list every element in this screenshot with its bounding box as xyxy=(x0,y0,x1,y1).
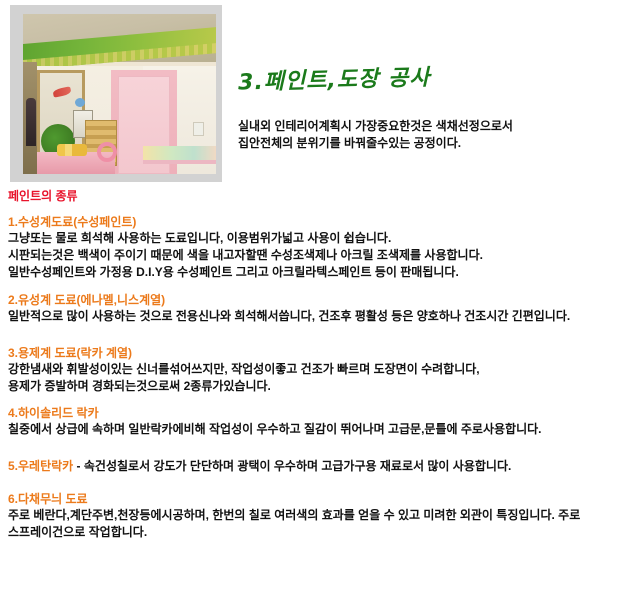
item-body: 강한냄새와 휘발성이있는 신너를섞어쓰지만, 작업성이좋고 건조가 빠르며 도장… xyxy=(8,361,614,395)
item-heading-text: 1.수성계도료(수성페인트) xyxy=(8,215,136,229)
item-heading: 5.우레탄락카 - 속건성칠로서 강도가 단단하며 광택이 우수하며 고급가구용… xyxy=(8,458,614,474)
photo-frame xyxy=(10,5,222,182)
interior-room-photo xyxy=(23,14,216,174)
photo-person-silhouette xyxy=(26,98,36,146)
item-body: 일반적으로 많이 사용하는 것으로 전용신나와 희석해서씁니다, 건조후 평활성… xyxy=(8,308,614,325)
photo-dado-stripe xyxy=(143,160,216,164)
item-heading: 3.용제계 도료(락카 계열) xyxy=(8,345,614,361)
paint-type-item: 5.우레탄락카 - 속건성칠로서 강도가 단단하며 광택이 우수하며 고급가구용… xyxy=(8,458,614,474)
paint-type-item: 2.유성계 도료(에나멜,니스계열) 일반적으로 많이 사용하는 것으로 전용신… xyxy=(8,292,614,325)
item-heading: 4.하이솔리드 락카 xyxy=(8,405,614,421)
item-body: 그냥또는 물로 희석해 사용하는 도료입니다, 이용범위가넓고 사용이 쉽습니다… xyxy=(8,230,614,281)
paint-type-item: 6.다채무늬 도료 주로 베란다,계단주변,천장등에시공하며, 한번의 칠로 여… xyxy=(8,491,614,541)
item-heading-text: 2.유성계 도료(에나멜,니스계열) xyxy=(8,293,165,307)
paint-type-item: 1.수성계도료(수성페인트) 그냥또는 물로 희석해 사용하는 도료입니다, 이… xyxy=(8,214,614,281)
photo-dado-band xyxy=(143,146,216,160)
photo-ring-toy xyxy=(97,142,117,162)
photo-toys xyxy=(57,144,87,156)
photo-blue-decal-icon xyxy=(75,98,85,107)
section-title: 페인트의 종류 xyxy=(8,187,78,204)
item-heading-text: 3.용제계 도료(락카 계열) xyxy=(8,346,132,360)
hero-description: 실내외 인테리어계획시 가장중요한것은 색채선정으로서 집안전체의 분위기를 바… xyxy=(238,118,513,152)
item-heading: 6.다채무늬 도료 xyxy=(8,491,614,507)
hero-block: 3.페인트,도장 공사 실내외 인테리어계획시 가장중요한것은 색채선정으로서 … xyxy=(0,0,619,182)
item-heading: 1.수성계도료(수성페인트) xyxy=(8,214,614,230)
item-heading-text: 5.우레탄락카 xyxy=(8,459,73,473)
page-title: 3.페인트,도장 공사 xyxy=(238,59,431,96)
item-body: 칠중에서 상급에 속하며 일반락카에비해 작업성이 우수하고 질감이 뛰어나며 … xyxy=(8,421,614,438)
item-heading: 2.유성계 도료(에나멜,니스계열) xyxy=(8,292,614,308)
item-heading-inline-rest: - 속건성칠로서 강도가 단단하며 광택이 우수하며 고급가구용 재료로서 많이… xyxy=(73,459,511,473)
item-heading-text: 6.다채무늬 도료 xyxy=(8,492,88,506)
item-heading-text: 4.하이솔리드 락카 xyxy=(8,406,99,420)
item-body: 주로 베란다,계단주변,천장등에시공하며, 한번의 칠로 여러색의 효과를 얻을… xyxy=(8,507,614,541)
photo-wall-outlet xyxy=(193,122,204,136)
paint-type-item: 4.하이솔리드 락카 칠중에서 상급에 속하며 일반락카에비해 작업성이 우수하… xyxy=(8,405,614,438)
paint-type-item: 3.용제계 도료(락카 계열) 강한냄새와 휘발성이있는 신너를섞어쓰지만, 작… xyxy=(8,345,614,395)
